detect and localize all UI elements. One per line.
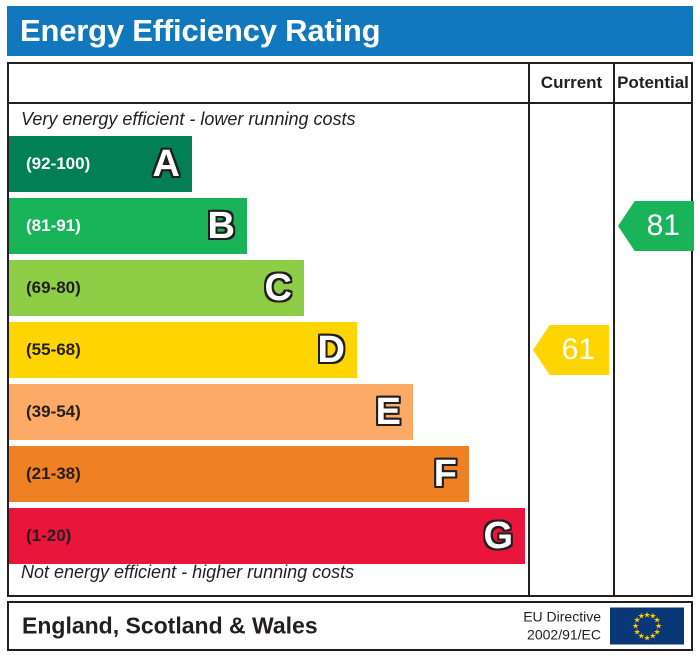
band-range-a: (92-100) [9, 154, 90, 174]
current-rating-arrow: 61 [533, 325, 609, 375]
potential-column-divider [613, 64, 615, 595]
rating-band-g: (1-20)G [9, 508, 525, 564]
band-range-g: (1-20) [9, 526, 71, 546]
band-letter-b: B [208, 207, 235, 245]
current-rating-value: 61 [562, 335, 609, 365]
current-column-divider [528, 64, 530, 595]
eu-directive-line1: EU Directive [523, 609, 601, 627]
band-letter-c: C [265, 269, 292, 307]
caption-efficient: Very energy efficient - lower running co… [21, 109, 356, 130]
page-title: Energy Efficiency Rating [7, 13, 380, 49]
column-header-potential: Potential [615, 64, 691, 102]
column-header-current: Current [530, 64, 613, 102]
rating-band-f: (21-38)F [9, 446, 469, 502]
rating-band-a: (92-100)A [9, 136, 192, 192]
rating-band-b: (81-91)B [9, 198, 247, 254]
band-letter-f: F [434, 455, 457, 493]
band-range-e: (39-54) [9, 402, 81, 422]
band-range-d: (55-68) [9, 340, 81, 360]
title-bar: Energy Efficiency Rating [7, 6, 693, 56]
footer-bar: England, Scotland & Wales EU Directive 2… [7, 601, 693, 651]
rating-band-e: (39-54)E [9, 384, 413, 440]
band-range-c: (69-80) [9, 278, 81, 298]
eu-flag-star: ★ [638, 613, 645, 620]
epc-certificate: Energy Efficiency Rating Current Potenti… [0, 0, 700, 658]
region-label: England, Scotland & Wales [22, 613, 318, 640]
eu-directive-line2: 2002/91/EC [523, 626, 601, 644]
rating-band-d: (55-68)D [9, 322, 357, 378]
band-letter-g: G [483, 517, 513, 555]
band-letter-e: E [376, 393, 401, 431]
band-range-f: (21-38) [9, 464, 81, 484]
rating-table: Current Potential Very energy efficient … [7, 62, 693, 597]
potential-rating-value: 81 [647, 211, 694, 241]
rating-bands: (92-100)A(81-91)B(69-80)C(55-68)D(39-54)… [9, 136, 528, 558]
band-letter-d: D [318, 331, 345, 369]
header-divider [9, 102, 691, 104]
eu-directive-label: EU Directive 2002/91/EC [523, 609, 601, 644]
eu-flag-icon: ★★★★★★★★★★★★ [610, 608, 684, 645]
band-range-b: (81-91) [9, 216, 81, 236]
rating-band-c: (69-80)C [9, 260, 304, 316]
caption-inefficient: Not energy efficient - higher running co… [21, 562, 354, 583]
potential-rating-arrow: 81 [618, 201, 694, 251]
band-letter-a: A [153, 145, 180, 183]
